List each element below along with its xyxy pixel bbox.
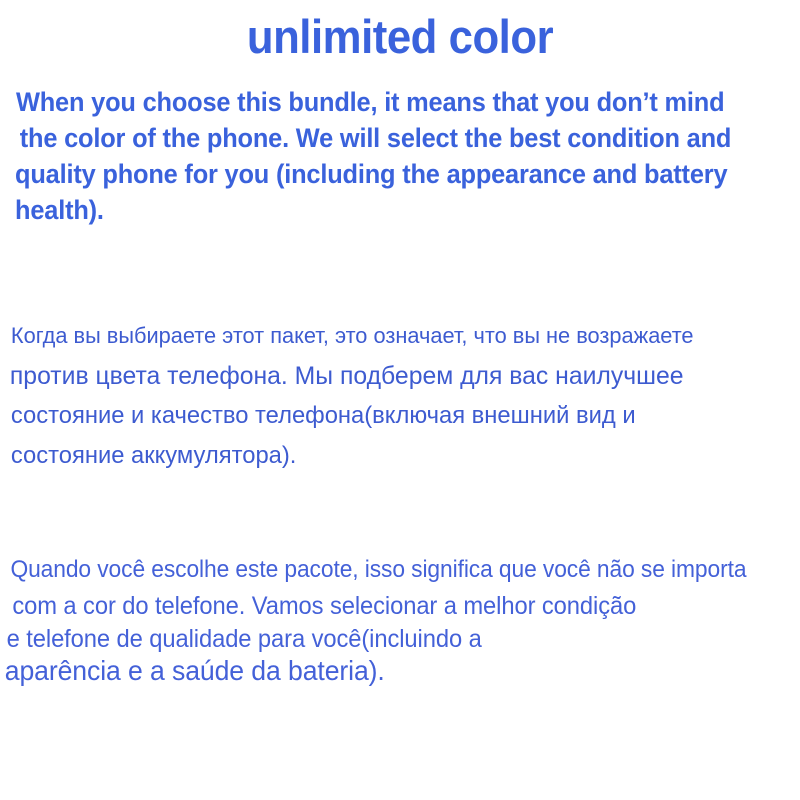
description-line: quality phone for you (including the app… bbox=[0, 156, 752, 192]
description-line: aparência e a saúde da bateria). bbox=[0, 654, 760, 688]
description-block-english: When you choose this bundle, it means th… bbox=[0, 84, 800, 228]
description-line: com a cor do telefone. Vamos selecionar … bbox=[0, 588, 760, 624]
description-line: When you choose this bundle, it means th… bbox=[0, 84, 752, 120]
description-line: e telefone de qualidade para você(inclui… bbox=[0, 624, 760, 654]
description-block-russian: Когда вы выбираете этот пакет, это означ… bbox=[0, 316, 800, 476]
page-title: unlimited color bbox=[28, 10, 772, 64]
description-line: health). bbox=[0, 192, 752, 228]
description-line: Когда вы выбираете этот пакет, это означ… bbox=[0, 316, 792, 356]
description-line: the color of the phone. We will select t… bbox=[0, 120, 752, 156]
product-description-banner: unlimited color When you choose this bun… bbox=[0, 0, 800, 800]
description-line: состояние аккумулятора). bbox=[0, 436, 792, 476]
description-block-portuguese: Quando você escolhe este pacote, isso si… bbox=[0, 552, 800, 688]
description-line: против цвета телефона. Мы подберем для в… bbox=[0, 356, 792, 396]
description-line: Quando você escolhe este pacote, isso si… bbox=[0, 552, 760, 588]
description-line: состояние и качество телефона(включая вн… bbox=[0, 396, 792, 436]
